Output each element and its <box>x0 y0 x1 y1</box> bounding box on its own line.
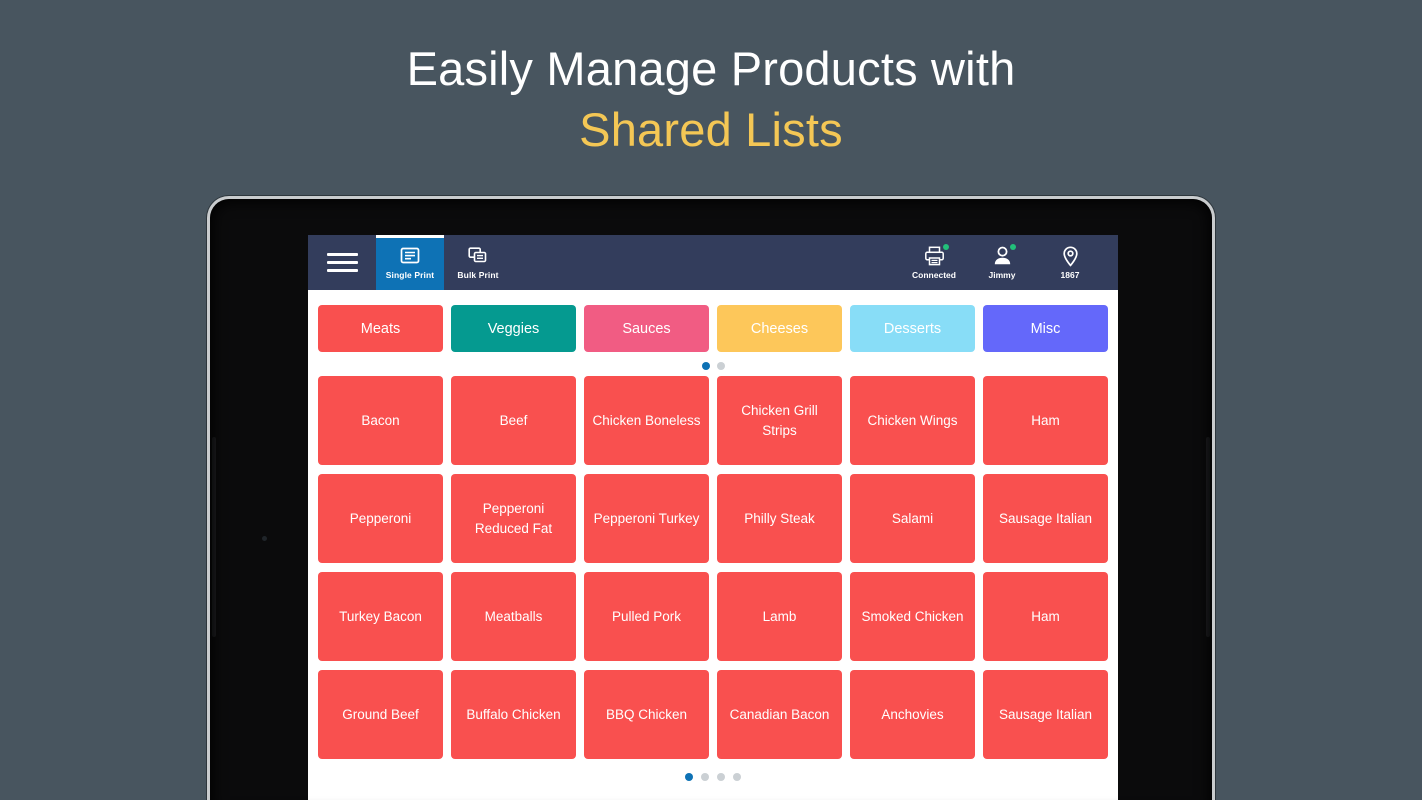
product-tile[interactable]: Pepperoni Reduced Fat <box>451 474 576 563</box>
location-pin-icon <box>1062 245 1079 267</box>
category-button-misc[interactable]: Misc <box>983 305 1108 352</box>
tablet-screen: Single Print Bulk Print <box>308 235 1118 800</box>
tablet-left-side-button[interactable] <box>212 437 216 637</box>
product-tile[interactable]: Salami <box>850 474 975 563</box>
user-icon <box>993 245 1012 267</box>
product-pagination-dot[interactable] <box>685 773 693 781</box>
product-pagination-dot[interactable] <box>733 773 741 781</box>
status-user[interactable]: Jimmy <box>968 245 1036 280</box>
category-pagination-dot[interactable] <box>702 362 710 370</box>
product-tile[interactable]: Chicken Grill Strips <box>717 376 842 465</box>
category-section: Meats Veggies Sauces Cheeses Desserts Mi… <box>308 290 1118 376</box>
product-grid: BaconBeefChicken BonelessChicken Grill S… <box>308 376 1118 759</box>
product-tile[interactable]: Pepperoni Turkey <box>584 474 709 563</box>
product-tile[interactable]: Chicken Boneless <box>584 376 709 465</box>
tab-single-print[interactable]: Single Print <box>376 235 444 290</box>
product-pagination-dot[interactable] <box>701 773 709 781</box>
product-tile[interactable]: Buffalo Chicken <box>451 670 576 759</box>
tab-single-print-label: Single Print <box>386 270 434 280</box>
product-tile[interactable]: Lamb <box>717 572 842 661</box>
product-tile[interactable]: Pulled Pork <box>584 572 709 661</box>
product-tile[interactable]: Bacon <box>318 376 443 465</box>
product-tile[interactable]: Ground Beef <box>318 670 443 759</box>
app-top-bar: Single Print Bulk Print <box>308 235 1118 290</box>
category-button-cheeses[interactable]: Cheeses <box>717 305 842 352</box>
category-row: Meats Veggies Sauces Cheeses Desserts Mi… <box>318 305 1108 352</box>
status-printer-label: Connected <box>912 270 956 280</box>
tab-bulk-print[interactable]: Bulk Print <box>444 235 512 290</box>
user-status-badge <box>1010 244 1016 250</box>
status-user-label: Jimmy <box>989 270 1016 280</box>
product-tile[interactable]: BBQ Chicken <box>584 670 709 759</box>
status-location[interactable]: 1867 <box>1036 245 1104 280</box>
printer-status-badge <box>943 244 949 250</box>
category-button-meats[interactable]: Meats <box>318 305 443 352</box>
appbar-spacer <box>512 235 900 290</box>
tab-bulk-print-label: Bulk Print <box>457 270 498 280</box>
category-pagination-dot[interactable] <box>717 362 725 370</box>
product-tile[interactable]: Canadian Bacon <box>717 670 842 759</box>
appbar-status-group: Connected Jimmy <box>900 235 1118 290</box>
product-tile[interactable]: Smoked Chicken <box>850 572 975 661</box>
bulk-print-icon <box>468 245 489 267</box>
status-location-label: 1867 <box>1061 270 1080 280</box>
product-pagination-dots <box>308 768 1118 789</box>
product-tile[interactable]: Meatballs <box>451 572 576 661</box>
category-button-veggies[interactable]: Veggies <box>451 305 576 352</box>
product-row: PepperoniPepperoni Reduced FatPepperoni … <box>318 474 1108 563</box>
product-tile[interactable]: Pepperoni <box>318 474 443 563</box>
single-print-icon <box>400 245 420 267</box>
category-pagination-dots <box>318 352 1108 376</box>
headline-line-2: Shared Lists <box>0 105 1422 156</box>
product-tile[interactable]: Turkey Bacon <box>318 572 443 661</box>
category-button-sauces[interactable]: Sauces <box>584 305 709 352</box>
product-tile[interactable]: Sausage Italian <box>983 670 1108 759</box>
product-tile[interactable]: Chicken Wings <box>850 376 975 465</box>
page-headline: Easily Manage Products with Shared Lists <box>0 44 1422 156</box>
product-row: BaconBeefChicken BonelessChicken Grill S… <box>318 376 1108 465</box>
product-pagination-dot[interactable] <box>717 773 725 781</box>
status-printer-connected[interactable]: Connected <box>900 245 968 280</box>
tablet-device-frame: Single Print Bulk Print <box>207 196 1215 800</box>
product-tile[interactable]: Beef <box>451 376 576 465</box>
hamburger-menu-icon[interactable] <box>308 235 376 290</box>
category-button-desserts[interactable]: Desserts <box>850 305 975 352</box>
product-tile[interactable]: Ham <box>983 572 1108 661</box>
printer-icon <box>924 245 945 267</box>
product-row: Ground BeefBuffalo ChickenBBQ ChickenCan… <box>318 670 1108 759</box>
product-tile[interactable]: Anchovies <box>850 670 975 759</box>
headline-line-1: Easily Manage Products with <box>0 44 1422 95</box>
product-tile[interactable]: Philly Steak <box>717 474 842 563</box>
product-tile[interactable]: Ham <box>983 376 1108 465</box>
product-tile[interactable]: Sausage Italian <box>983 474 1108 563</box>
product-row: Turkey BaconMeatballsPulled PorkLambSmok… <box>318 572 1108 661</box>
tablet-front-camera <box>262 536 267 541</box>
tablet-right-side-button[interactable] <box>1206 437 1210 637</box>
